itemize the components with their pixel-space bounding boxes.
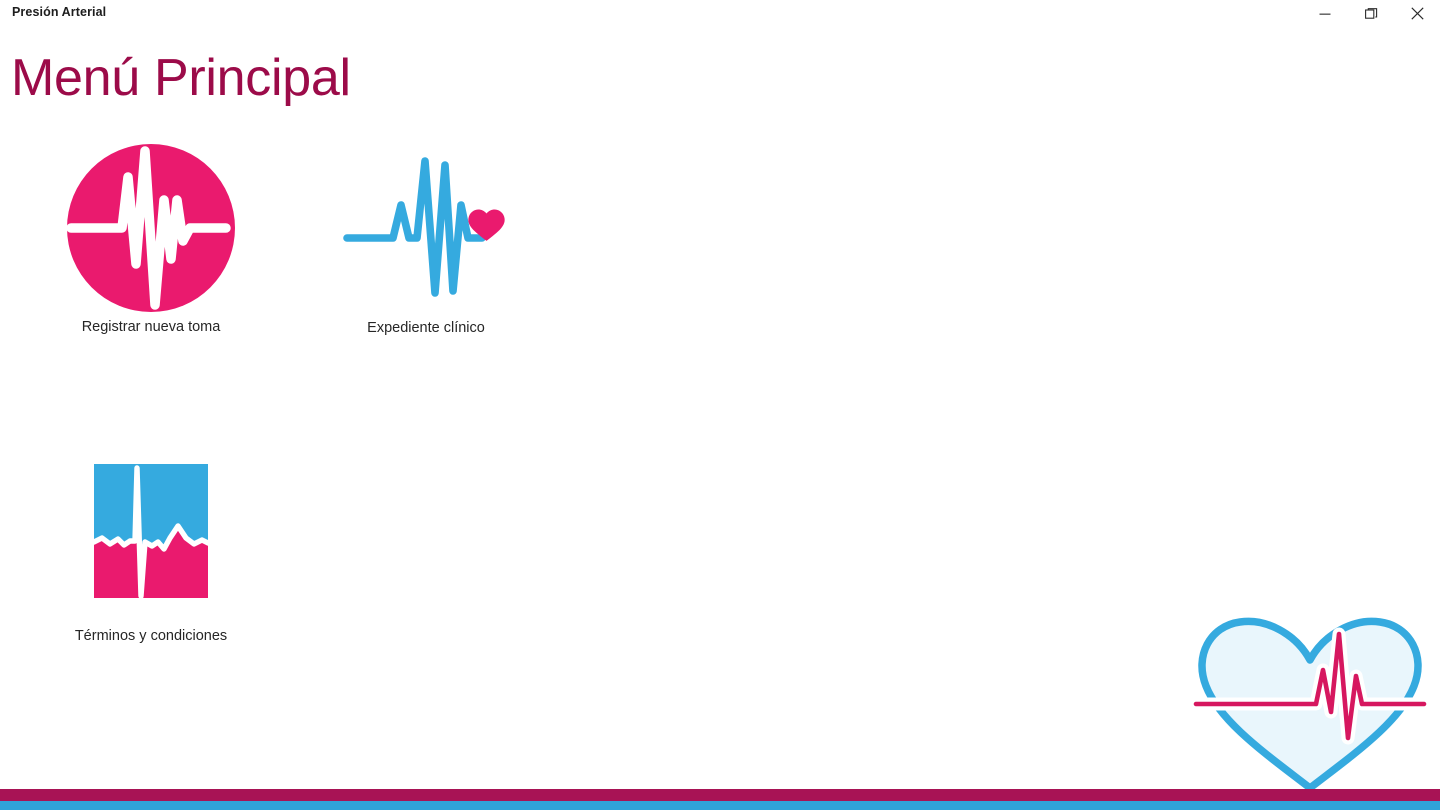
menu-item-label: Términos y condiciones — [75, 628, 227, 644]
menu-item-terminos-y-condiciones[interactable]: Términos y condiciones — [31, 446, 271, 644]
page-title: Menú Principal — [11, 49, 351, 107]
menu-item-expediente-clinico[interactable]: Expediente clínico — [306, 143, 546, 336]
window-title: Presión Arterial — [12, 5, 106, 19]
restore-button[interactable] — [1348, 0, 1394, 27]
heart-pulse-logo-icon — [1192, 614, 1428, 794]
footer-bar-blue — [0, 801, 1440, 810]
close-button[interactable] — [1394, 0, 1440, 27]
menu-item-registrar-nueva-toma[interactable]: Registrar nueva toma — [31, 143, 271, 335]
app-window: Presión Arterial — [0, 0, 1440, 810]
ecg-chart-square-icon — [66, 446, 236, 616]
menu-item-label: Registrar nueva toma — [82, 319, 221, 335]
minimize-icon — [1319, 8, 1331, 20]
ecg-heartbeat-icon — [341, 143, 511, 313]
close-icon — [1411, 7, 1424, 20]
ecg-circle-icon — [66, 143, 236, 313]
window-controls — [1302, 0, 1440, 27]
title-bar[interactable]: Presión Arterial — [0, 0, 1440, 27]
menu-item-label: Expediente clínico — [367, 320, 485, 336]
footer-bar-crimson — [0, 789, 1440, 801]
restore-icon — [1365, 7, 1378, 20]
minimize-button[interactable] — [1302, 0, 1348, 27]
brand-logo — [1192, 614, 1428, 794]
